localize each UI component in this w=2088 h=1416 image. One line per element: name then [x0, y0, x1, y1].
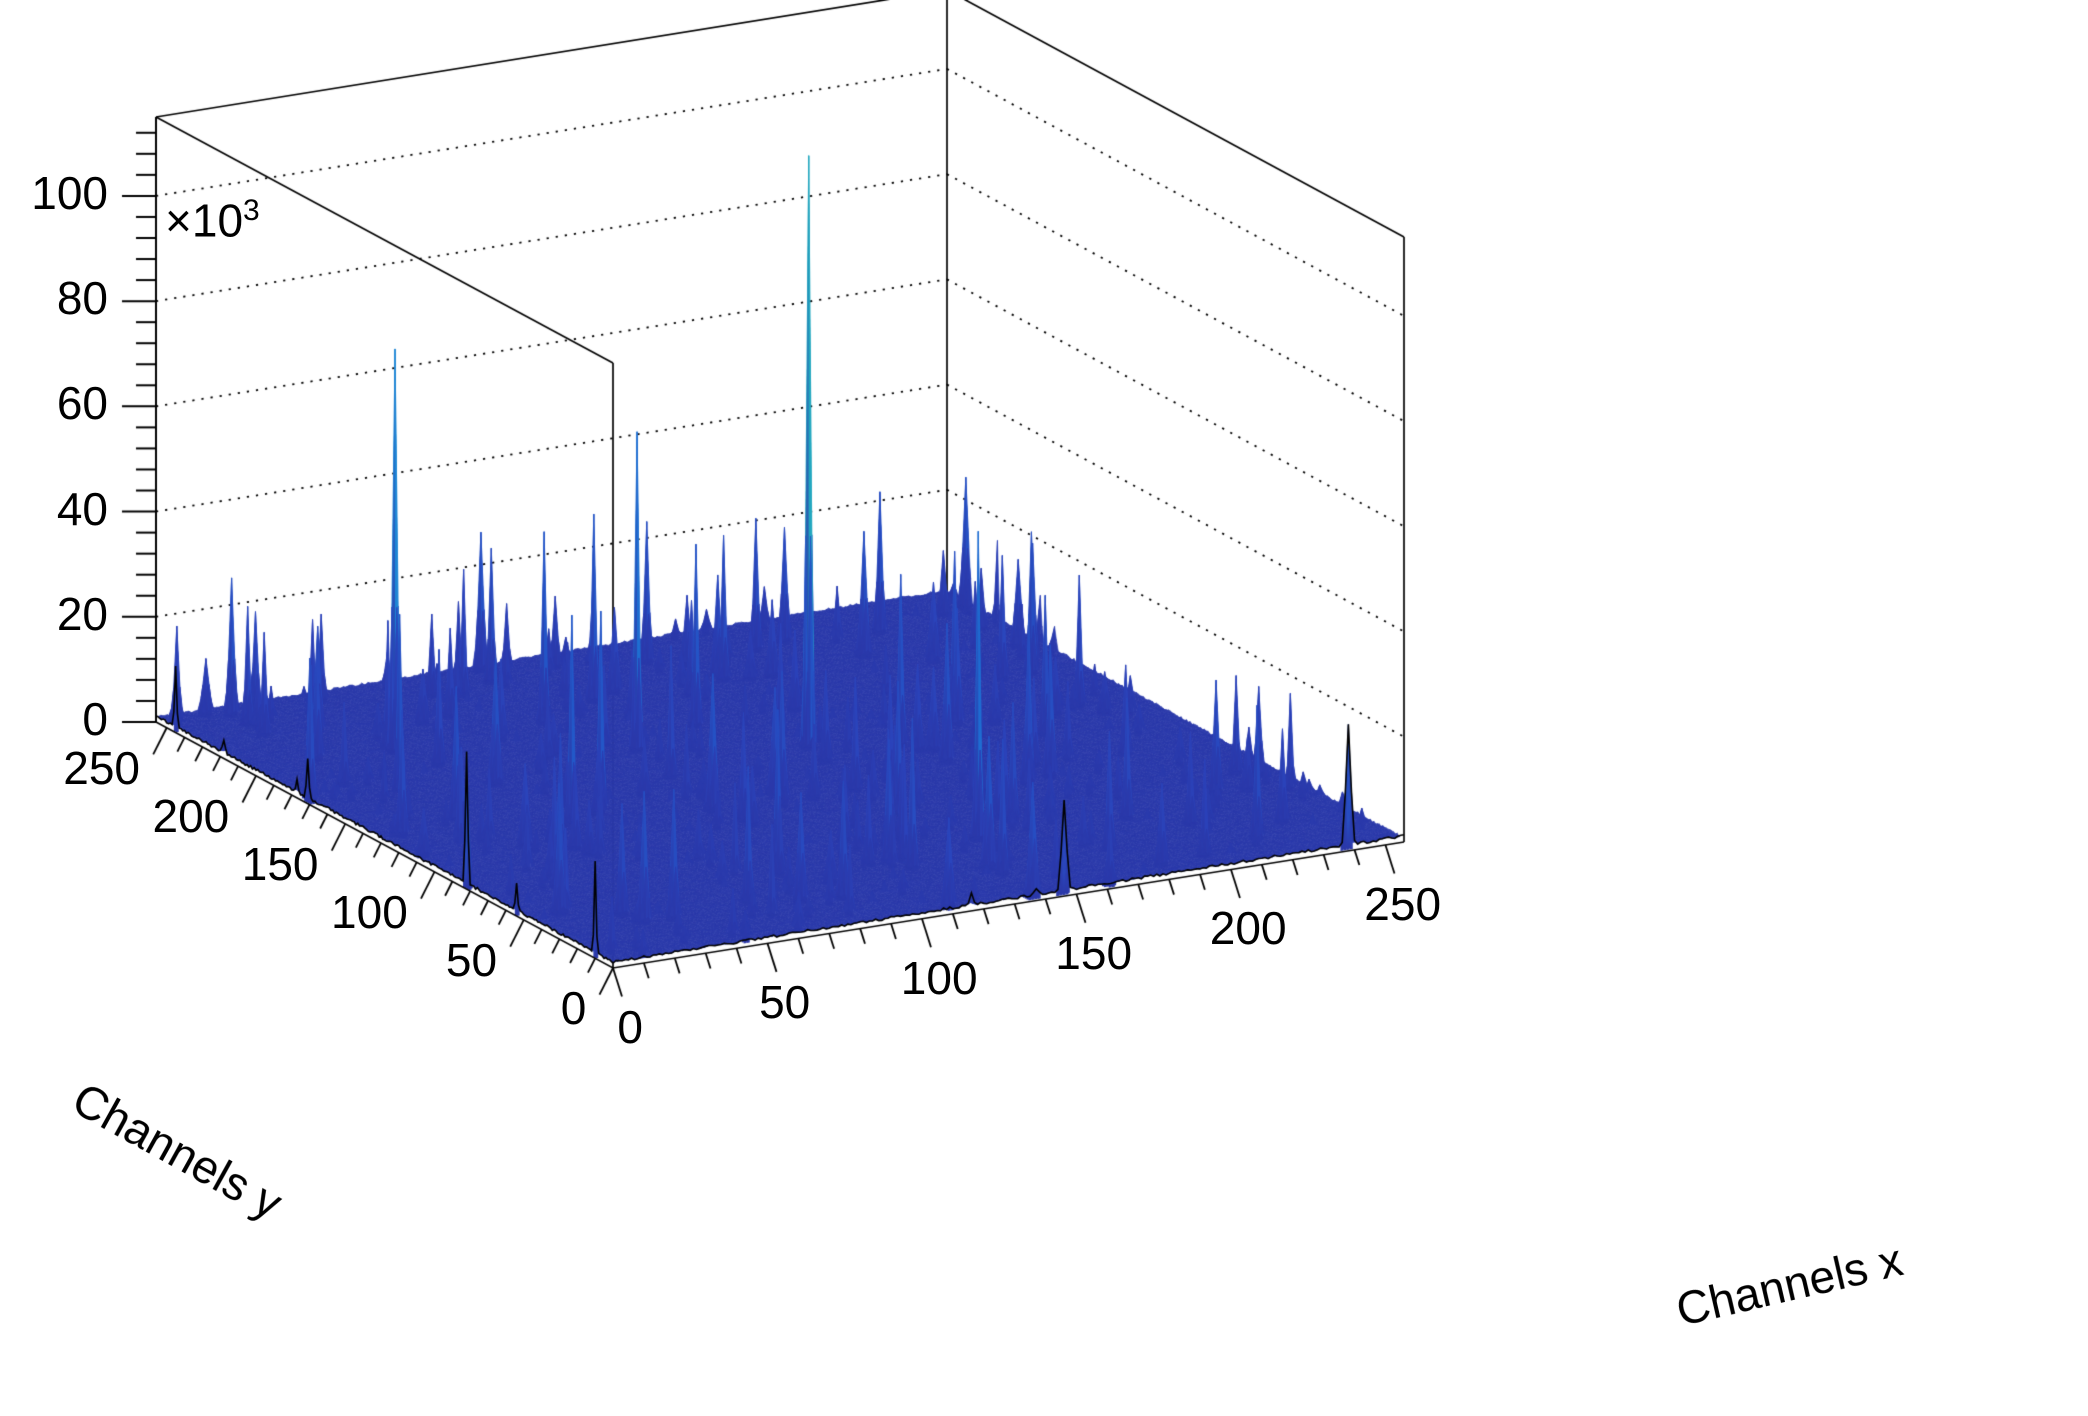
x-tick-50: 50: [759, 979, 810, 1025]
y-tick-0: 0: [561, 985, 587, 1031]
x-tick-100: 100: [901, 955, 978, 1001]
z-tick-40: 40: [57, 486, 108, 532]
y-tick-250: 250: [63, 745, 140, 791]
y-tick-50: 50: [446, 937, 497, 983]
x-tick-250: 250: [1364, 881, 1441, 927]
surface-plot-figure: ×103 100806040200 250200150100500 050100…: [0, 0, 2088, 1416]
z-tick-80: 80: [57, 275, 108, 321]
z-axis-exponent-label: ×103: [165, 196, 260, 243]
x-tick-150: 150: [1055, 930, 1132, 976]
z-tick-100: 100: [31, 170, 108, 216]
z-exponent-mantissa: ×10: [165, 194, 243, 246]
z-exponent-power: 3: [243, 194, 260, 227]
z-tick-20: 20: [57, 591, 108, 637]
surface-plot-canvas: [0, 0, 2088, 1416]
z-tick-0: 0: [82, 696, 108, 742]
x-tick-0: 0: [617, 1004, 643, 1050]
y-tick-200: 200: [153, 793, 230, 839]
z-tick-60: 60: [57, 380, 108, 426]
y-tick-150: 150: [242, 841, 319, 887]
y-tick-100: 100: [331, 889, 408, 935]
x-tick-200: 200: [1210, 905, 1287, 951]
